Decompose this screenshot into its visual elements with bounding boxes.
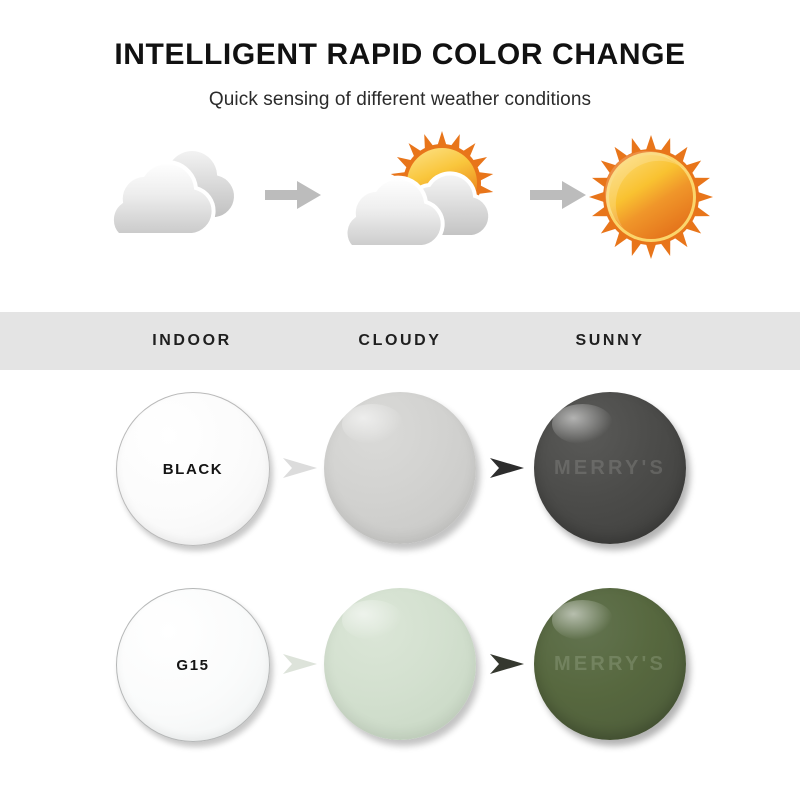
lens-row-black: BLACK MERRY'S — [0, 370, 800, 566]
lens-black-indoor: BLACK — [116, 392, 270, 546]
sun-icon — [585, 133, 717, 261]
lens-label: BLACK — [163, 461, 224, 478]
column-label-indoor: INDOOR — [152, 332, 232, 350]
arrow-right-icon — [283, 651, 317, 677]
page-header: INTELLIGENT RAPID COLOR CHANGE Quick sen… — [0, 0, 800, 111]
column-header-band: INDOOR CLOUDY SUNNY — [0, 312, 800, 370]
weather-sequence — [0, 133, 800, 273]
lens-label: G15 — [176, 657, 209, 674]
lens-row-g15: G15 MERRY'S — [0, 566, 800, 762]
lens-black-cloudy — [324, 392, 476, 544]
cloud-icon — [78, 135, 258, 255]
arrow-right-icon — [530, 181, 586, 209]
column-label-sunny: SUNNY — [575, 332, 644, 350]
column-label-cloudy: CLOUDY — [358, 332, 441, 350]
arrow-right-icon — [490, 455, 524, 481]
arrow-right-icon — [283, 455, 317, 481]
lens-comparison-grid: BLACK MERRY'S G15 — [0, 370, 800, 762]
lens-g15-cloudy — [324, 588, 476, 740]
lens-black-sunny: MERRY'S — [534, 392, 686, 544]
arrow-right-icon — [490, 651, 524, 677]
lens-g15-sunny: MERRY'S — [534, 588, 686, 740]
arrow-right-icon — [265, 181, 321, 209]
brand-watermark: MERRY'S — [554, 457, 666, 480]
page-title: INTELLIGENT RAPID COLOR CHANGE — [0, 38, 800, 71]
sun-behind-cloud-icon — [330, 125, 520, 265]
lens-g15-indoor: G15 — [116, 588, 270, 742]
brand-watermark: MERRY'S — [554, 653, 666, 676]
page-subtitle: Quick sensing of different weather condi… — [0, 89, 800, 111]
